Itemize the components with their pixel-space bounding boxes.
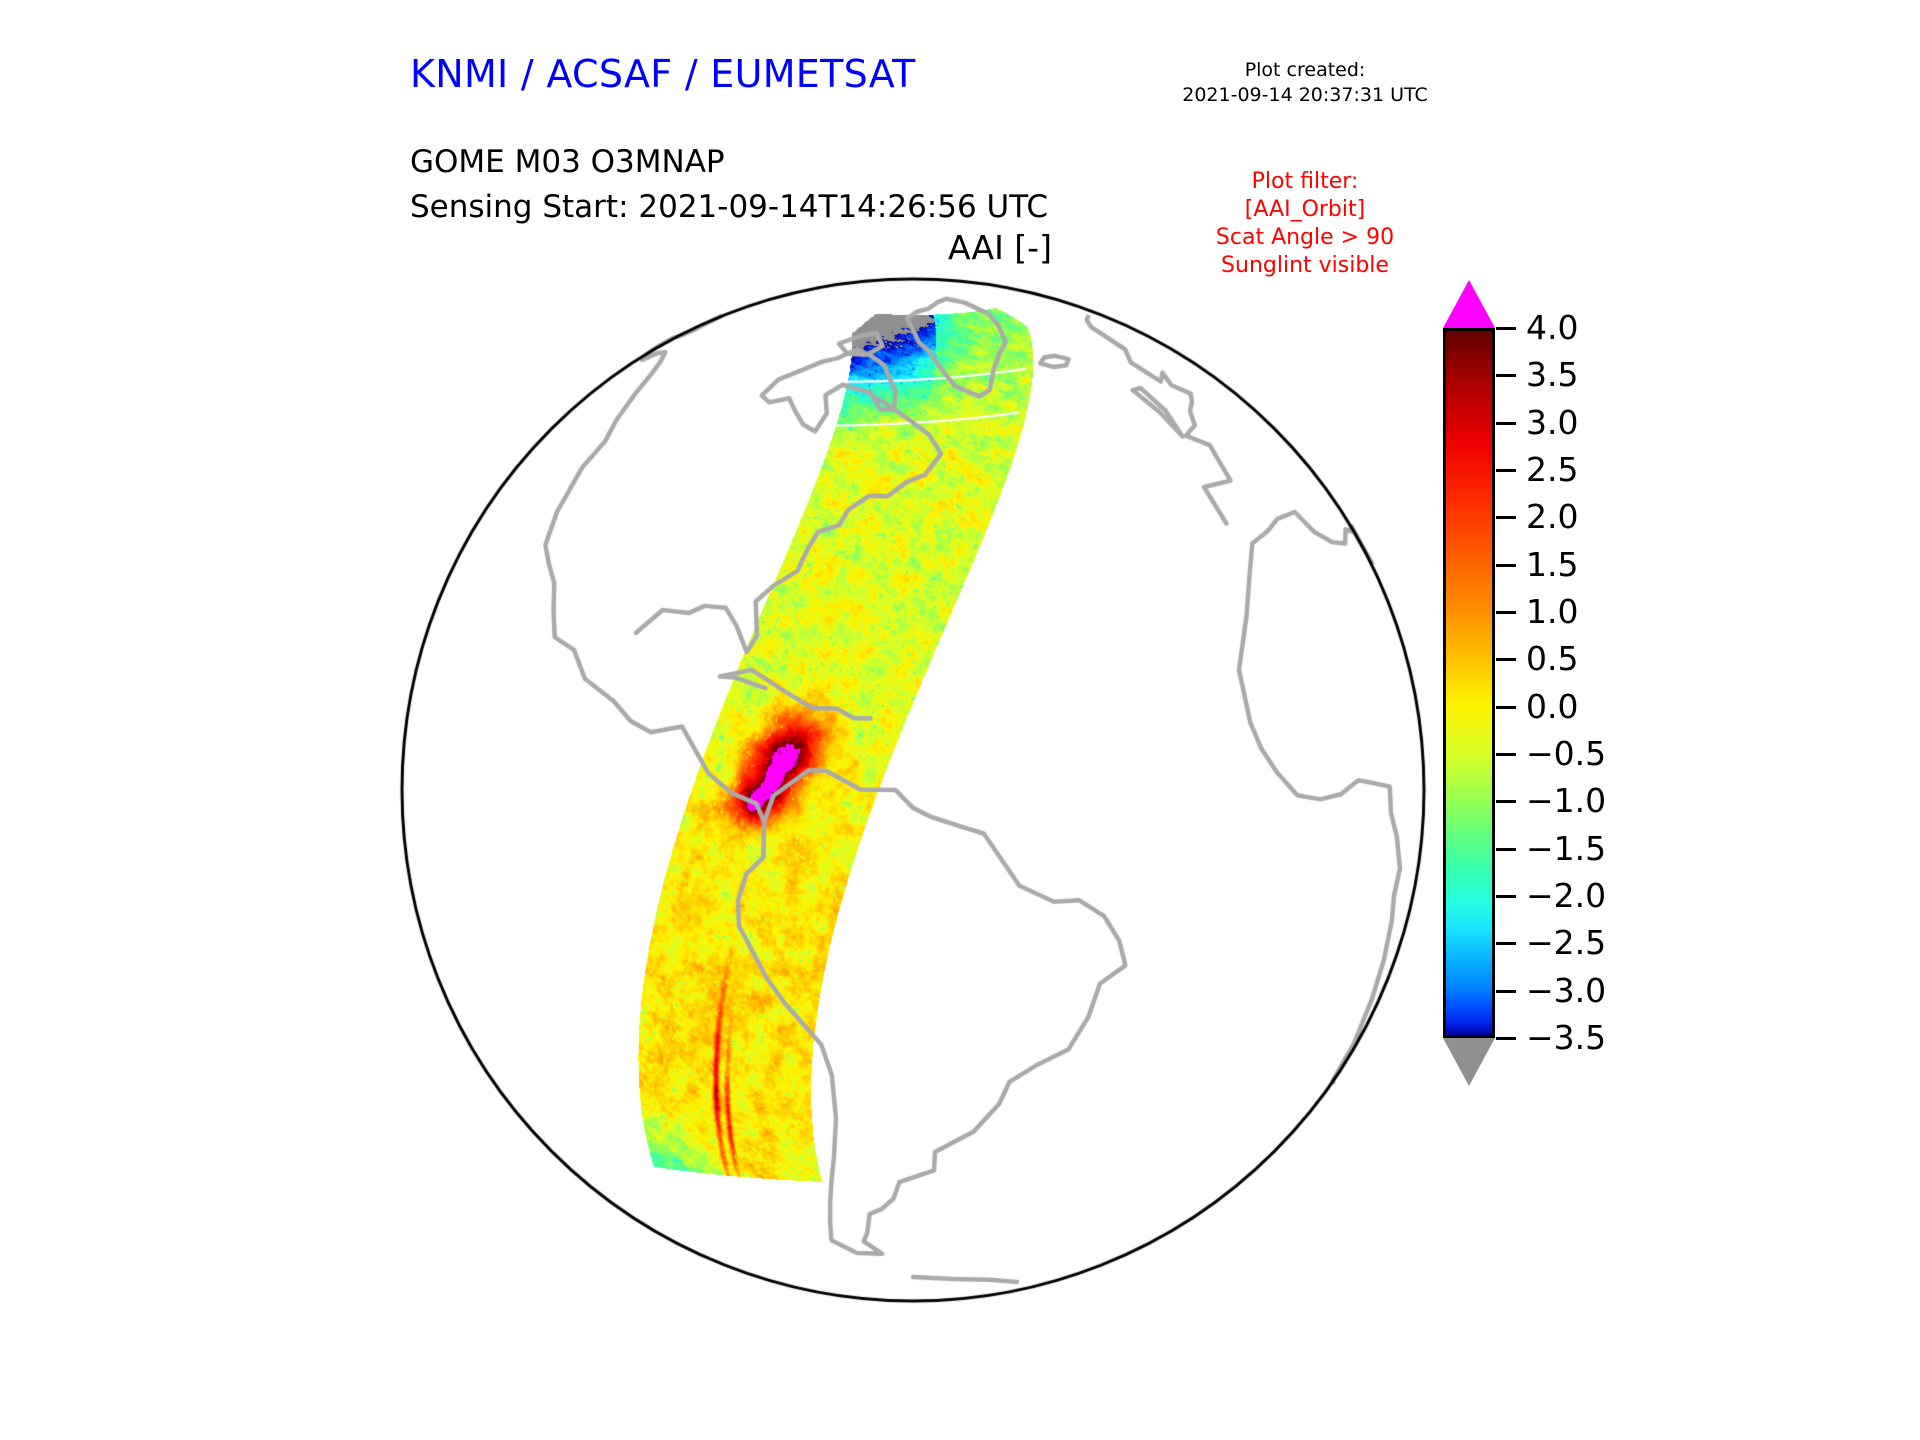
colorbar-tick-label: −1.5	[1526, 832, 1606, 865]
colorbar-tick	[1496, 564, 1516, 567]
colorbar-under-range-arrow	[1443, 1038, 1495, 1086]
colorbar-tick	[1496, 990, 1516, 993]
colorbar-tick-label: −3.0	[1526, 974, 1606, 1007]
plot-filter-label: Plot filter:	[1140, 168, 1470, 196]
colorbar-tick	[1496, 1037, 1516, 1040]
map-canvas	[398, 275, 1428, 1305]
plot-created-label: Plot created:	[1110, 58, 1500, 83]
colorbar-tick-label: 2.0	[1526, 500, 1578, 533]
orthographic-globe-map	[398, 275, 1428, 1305]
colorbar-tick	[1496, 706, 1516, 709]
colorbar: 4.03.53.02.52.01.51.00.50.0−0.5−1.0−1.5−…	[1430, 280, 1850, 1090]
colorbar-tick	[1496, 469, 1516, 472]
colorbar-tick-label: −1.0	[1526, 784, 1606, 817]
page-title-organisation: KNMI / ACSAF / EUMETSAT	[410, 52, 916, 96]
plot-filter-scat-angle: Scat Angle > 90	[1140, 224, 1470, 252]
colorbar-tick	[1496, 327, 1516, 330]
colorbar-tick-label: 3.5	[1526, 358, 1578, 391]
colorbar-tick	[1496, 658, 1516, 661]
colorbar-tick	[1496, 611, 1516, 614]
colorbar-tick	[1496, 848, 1516, 851]
plot-filter-block: Plot filter: [AAI_Orbit] Scat Angle > 90…	[1140, 168, 1470, 280]
colorbar-tick	[1496, 516, 1516, 519]
colorbar-tick	[1496, 422, 1516, 425]
colorbar-tick-label: −0.5	[1526, 737, 1606, 770]
colorbar-tick	[1496, 374, 1516, 377]
colorbar-tick-label: 0.0	[1526, 690, 1578, 723]
colorbar-tick-label: −3.5	[1526, 1021, 1606, 1054]
sensing-start: Sensing Start: 2021-09-14T14:26:56 UTC	[410, 185, 1048, 230]
colorbar-tick	[1496, 895, 1516, 898]
colorbar-tick-label: 4.0	[1526, 311, 1578, 344]
colorbar-tick-label: 1.5	[1526, 548, 1578, 581]
plot-filter-variable: [AAI_Orbit]	[1140, 196, 1470, 224]
colorbar-tick-label: 3.0	[1526, 406, 1578, 439]
colorbar-tick-label: −2.5	[1526, 926, 1606, 959]
colorbar-tick-label: 0.5	[1526, 642, 1578, 675]
colorbar-tick-label: 2.5	[1526, 453, 1578, 486]
plot-created-timestamp: 2021-09-14 20:37:31 UTC	[1110, 83, 1500, 108]
colorbar-tick	[1496, 753, 1516, 756]
colorbar-tick-label: −2.0	[1526, 879, 1606, 912]
colorbar-over-range-arrow	[1443, 280, 1495, 328]
colorbar-tick-label: 1.0	[1526, 595, 1578, 628]
colorbar-tick	[1496, 800, 1516, 803]
product-info-block: GOME M03 O3MNAP Sensing Start: 2021-09-1…	[410, 140, 1048, 230]
plot-created-block: Plot created: 2021-09-14 20:37:31 UTC	[1110, 58, 1500, 108]
colorbar-gradient-bar	[1443, 328, 1495, 1038]
colorbar-tick	[1496, 942, 1516, 945]
product-name: GOME M03 O3MNAP	[410, 140, 1048, 185]
